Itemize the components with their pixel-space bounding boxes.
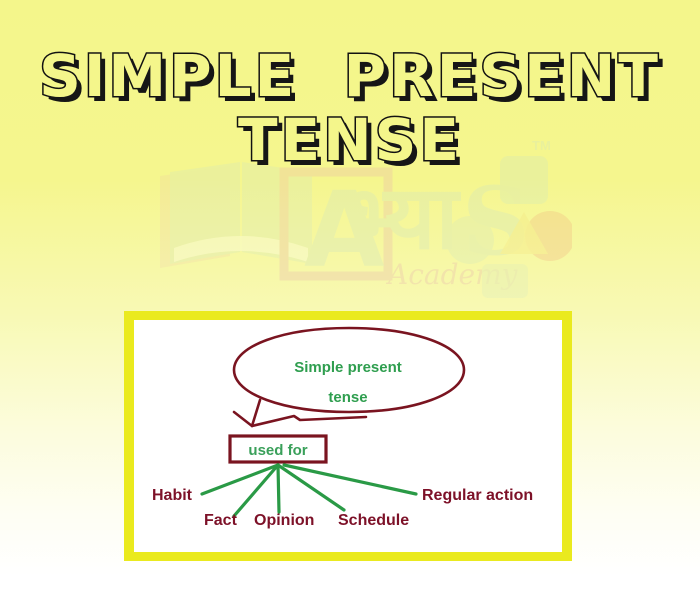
watermark-devanagari: भ्या <box>348 166 462 269</box>
leaf-label-schedule: Schedule <box>338 512 409 529</box>
brand-a-box-icon: A <box>284 169 388 291</box>
ray-regular-action <box>284 465 416 494</box>
leaf-label-opinion: Opinion <box>254 512 314 529</box>
diagram-canvas: Simple present tense used for Habit Fact… <box>134 320 562 552</box>
speech-bubble <box>234 328 464 426</box>
slide-canvas: A भ्या S Academy TM SIMPLE PRESENT TENSE <box>0 0 700 600</box>
open-book-icon <box>160 162 312 268</box>
diagram-frame: Simple present tense used for Habit Fact… <box>124 311 572 561</box>
ray-opinion <box>278 465 279 512</box>
bubble-line-2: tense <box>328 389 367 406</box>
speech-bubble-tail-edge <box>252 416 366 426</box>
watermark-letter-s: S <box>462 167 530 277</box>
leaf-label-fact: Fact <box>204 512 238 529</box>
leaf-label-regular-action: Regular action <box>422 487 533 504</box>
watermark-letter-a: A <box>304 169 385 291</box>
page-title: SIMPLE PRESENT TENSE <box>0 46 700 170</box>
used-for-label: used for <box>248 442 307 459</box>
bubble-line-1: Simple present <box>294 359 402 376</box>
watermark-shapes-icon <box>446 156 572 298</box>
watermark-tagline: Academy <box>385 258 519 291</box>
connector-rays <box>202 465 416 516</box>
leaf-label-habit: Habit <box>152 487 193 504</box>
title-line-2: TENSE <box>0 110 700 170</box>
speech-bubble-tail <box>234 400 260 426</box>
title-line-1: SIMPLE PRESENT <box>0 46 700 106</box>
